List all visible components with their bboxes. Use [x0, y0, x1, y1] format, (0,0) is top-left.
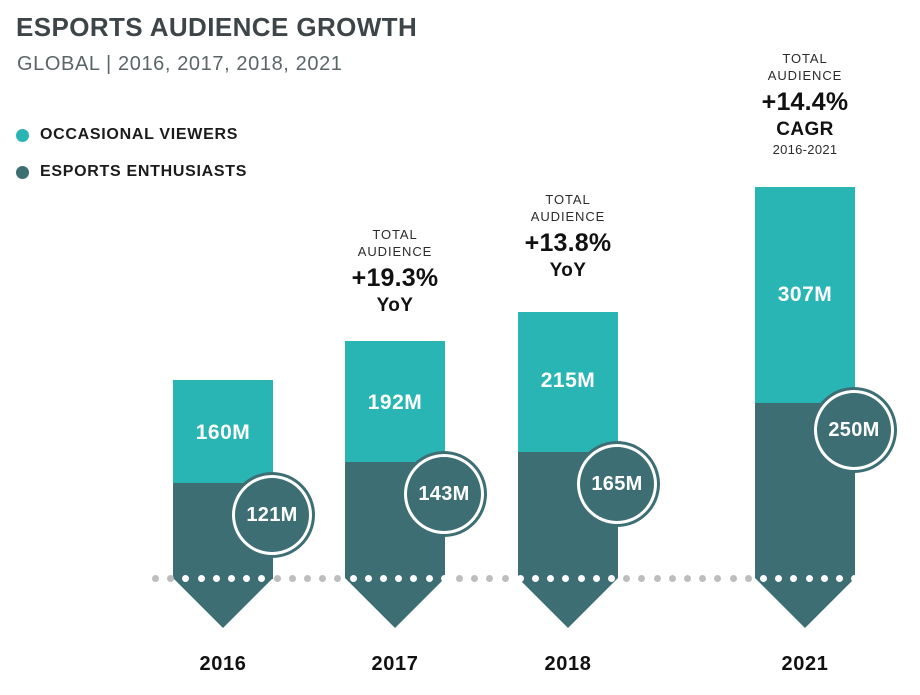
- baseline-dot: [289, 575, 296, 582]
- baseline-dot: [182, 575, 189, 582]
- baseline-dot: [319, 575, 326, 582]
- baseline-dot: [547, 575, 554, 582]
- baseline-dot: [152, 575, 159, 582]
- baseline-dot: [517, 575, 524, 582]
- badge-enthusiasts-2018[interactable]: 165M: [580, 447, 654, 521]
- bar-value-occasional-2021: 307M: [755, 283, 855, 307]
- badge-enthusiasts-2017[interactable]: 143M: [407, 457, 481, 531]
- baseline-dot: [213, 575, 220, 582]
- badge-value-2016: 121M: [246, 504, 297, 527]
- baseline-dot: [274, 575, 281, 582]
- bar-value-occasional-2018: 215M: [518, 369, 618, 393]
- baseline-dot: [304, 575, 311, 582]
- baseline-dot: [593, 575, 600, 582]
- bar-tip-2016: [173, 578, 273, 628]
- bar-tip-2021: [755, 578, 855, 628]
- baseline-dot: [623, 575, 630, 582]
- baseline-dot: [654, 575, 661, 582]
- legend-swatch-esports-enthusiasts: [16, 166, 29, 179]
- baseline-dotted-axis: [152, 575, 868, 583]
- baseline-dot: [562, 575, 569, 582]
- baseline-dot: [471, 575, 478, 582]
- bar-value-occasional-2016: 160M: [173, 421, 273, 445]
- baseline-dot: [426, 575, 433, 582]
- baseline-dot: [532, 575, 539, 582]
- baseline-dot: [228, 575, 235, 582]
- baseline-dot: [806, 575, 813, 582]
- legend-swatch-occasional-viewers: [16, 129, 29, 142]
- baseline-dot: [775, 575, 782, 582]
- baseline-dot: [669, 575, 676, 582]
- baseline-dot: [258, 575, 265, 582]
- baseline-dot: [502, 575, 509, 582]
- bar-tip-2018: [518, 578, 618, 628]
- x-axis-label-2017: 2017: [345, 653, 445, 676]
- baseline-dot: [380, 575, 387, 582]
- baseline-dot: [578, 575, 585, 582]
- baseline-dot: [243, 575, 250, 582]
- baseline-dot: [167, 575, 174, 582]
- baseline-dot: [395, 575, 402, 582]
- baseline-dot: [198, 575, 205, 582]
- baseline-dot: [714, 575, 721, 582]
- baseline-dot: [821, 575, 828, 582]
- bar-tip-2017: [345, 578, 445, 628]
- baseline-dot: [745, 575, 752, 582]
- x-axis-label-2016: 2016: [173, 653, 273, 676]
- badge-value-2018: 165M: [591, 473, 642, 496]
- baseline-dot: [486, 575, 493, 582]
- badge-value-2021: 250M: [828, 419, 879, 442]
- baseline-dot: [836, 575, 843, 582]
- chart-canvas: ESPORTS AUDIENCE GROWTH GLOBAL | 2016, 2…: [0, 0, 920, 695]
- baseline-dot: [441, 575, 448, 582]
- baseline-dot: [410, 575, 417, 582]
- baseline-dot: [851, 575, 858, 582]
- baseline-dot: [608, 575, 615, 582]
- x-axis-label-2021: 2021: [755, 653, 855, 676]
- baseline-dot: [790, 575, 797, 582]
- baseline-dot: [684, 575, 691, 582]
- badge-enthusiasts-2021[interactable]: 250M: [817, 393, 891, 467]
- baseline-dot: [365, 575, 372, 582]
- baseline-dot: [730, 575, 737, 582]
- baseline-dot: [638, 575, 645, 582]
- bar-value-occasional-2017: 192M: [345, 391, 445, 415]
- baseline-dot: [699, 575, 706, 582]
- baseline-dot: [760, 575, 767, 582]
- badge-value-2017: 143M: [418, 483, 469, 506]
- baseline-dot: [456, 575, 463, 582]
- baseline-dot: [334, 575, 341, 582]
- baseline-dot: [350, 575, 357, 582]
- x-axis-label-2018: 2018: [518, 653, 618, 676]
- badge-enthusiasts-2016[interactable]: 121M: [235, 478, 309, 552]
